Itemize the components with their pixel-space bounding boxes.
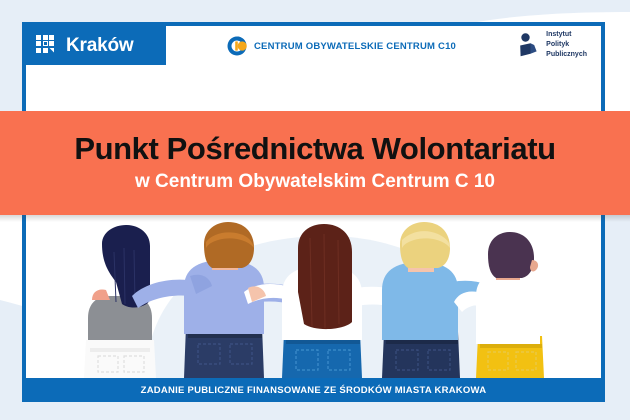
krakow-logo: Kraków [26,26,166,65]
illustration-five-people [26,222,601,378]
centrum-obywatelskie-logo: CENTRUM OBYWATELSKIE CENTRUM C10 [226,34,456,58]
poster-root: Kraków CENTRUM OBYWATELSKIE CENTRUM C10 [0,0,630,420]
title-band: Punkt Pośrednictwa Wolontariatu w Centru… [0,111,630,215]
centrum-obywatelskie-mark-icon [226,35,248,57]
instytut-line-2: Polityk [546,41,569,48]
page-title: Punkt Pośrednictwa Wolontariatu [74,133,555,166]
krakow-logo-label: Kraków [66,36,133,55]
instytut-person-mark-icon [517,32,539,58]
instytut-line-1: Instytut [546,31,571,38]
instytut-line-3: Publicznych [546,51,587,58]
footer-funding-text: ZADANIE PUBLICZNE FINANSOWANE ZE ŚRODKÓW… [141,385,487,396]
centrum-obywatelskie-label: CENTRUM OBYWATELSKIE CENTRUM C10 [254,41,456,52]
krakow-grid-mark-icon [36,35,58,57]
instytut-polityk-publicznych-logo: Instytut Polityk Publicznych [517,30,587,60]
header-logo-row: Kraków CENTRUM OBYWATELSKIE CENTRUM C10 [26,26,601,96]
illustration-svg [26,222,601,378]
footer-bar: ZADANIE PUBLICZNE FINANSOWANE ZE ŚRODKÓW… [22,378,605,402]
instytut-logo-label: Instytut Polityk Publicznych [546,30,587,60]
band-shadow [0,215,630,222]
page-subtitle: w Centrum Obywatelskim Centrum C 10 [135,172,495,193]
